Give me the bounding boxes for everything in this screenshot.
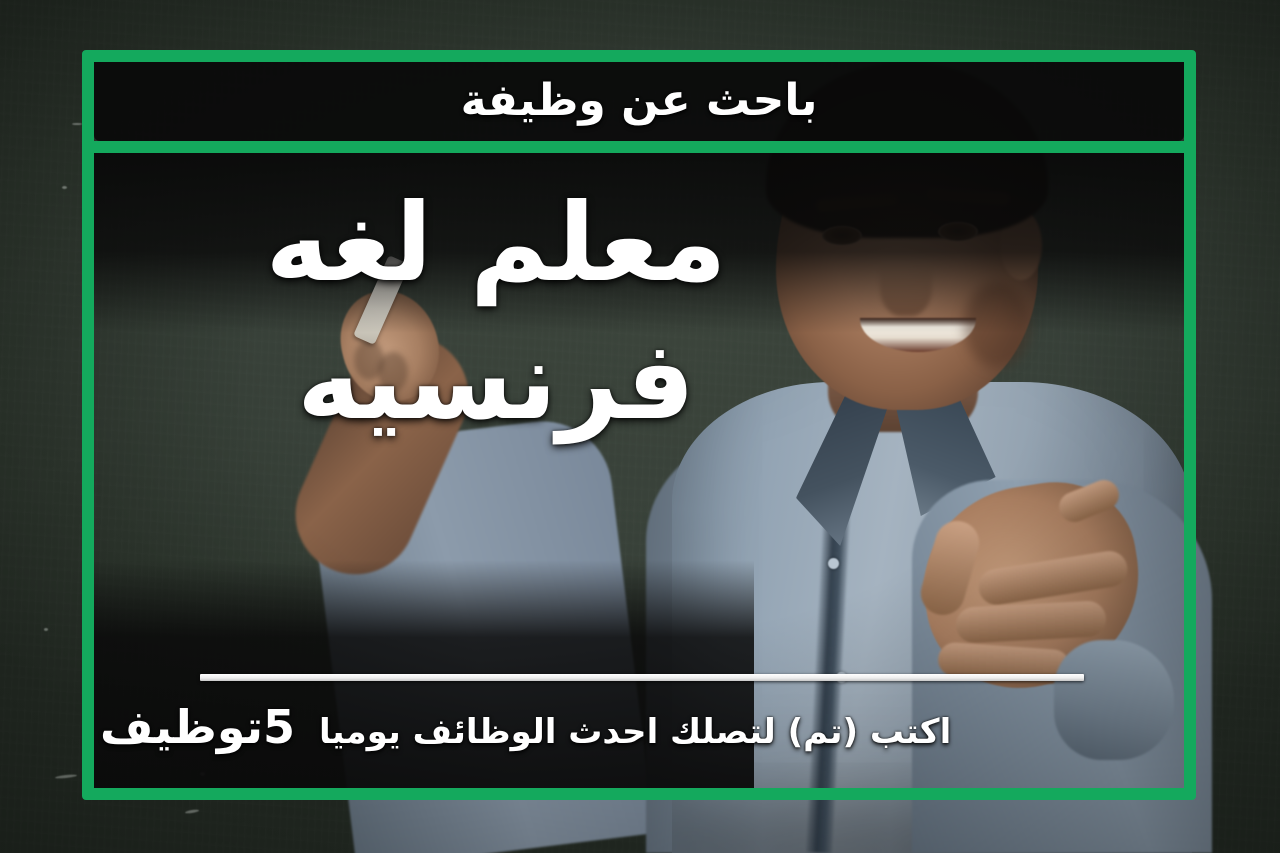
header-label: باحث عن وظيفة [94, 60, 1184, 140]
job-ad-card: باحث عن وظيفة معلم لغه فرنسيه اكتب (تم) … [0, 0, 1280, 853]
job-title-line-2: فرنسيه [96, 316, 896, 448]
green-frame-divider [82, 141, 1196, 153]
footer-brand-name: 5توظيف [100, 700, 295, 754]
footer-bar: اكتب (تم) لتصلك احدث الوظائف يوميا 5توظي… [100, 700, 1080, 754]
job-title-line-1: معلم لغه [96, 178, 896, 310]
footer-subscribe-note: اكتب (تم) لتصلك احدث الوظائف يوميا [319, 712, 951, 752]
job-title: معلم لغه فرنسيه [96, 178, 896, 448]
footer-divider-rule [200, 674, 1084, 681]
